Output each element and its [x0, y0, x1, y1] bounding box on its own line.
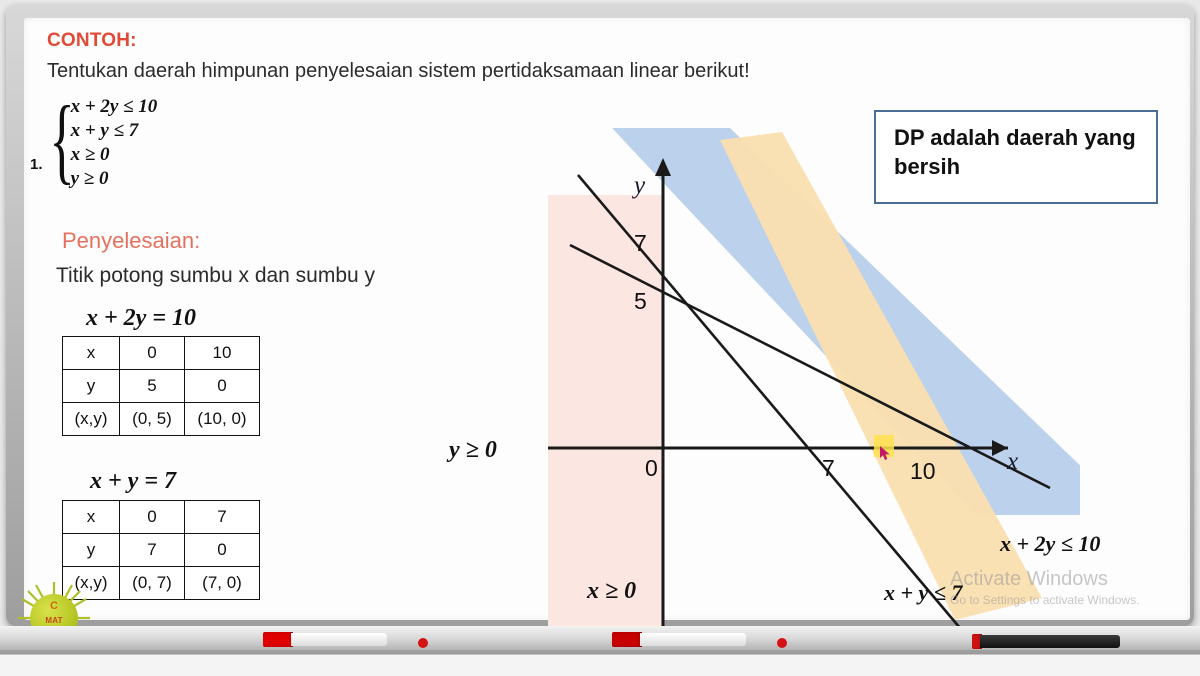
shade-region-orange-x-plus-2y [720, 132, 1042, 620]
whiteboard-marker-red-1 [263, 632, 388, 647]
inequality-system: 1. { x + 2y ≤ 10 x + y ≤ 7 x ≥ 0 y ≥ 0 [30, 96, 157, 190]
table-row: (x,y) (0, 7) (7, 0) [63, 567, 260, 600]
table-row: x 0 7 [63, 501, 260, 534]
cell: x [63, 501, 120, 534]
cell: 10 [185, 337, 260, 370]
instruction-text: Tentukan daerah himpunan penyelesaian si… [47, 60, 750, 83]
page-title: CONTOH: [47, 30, 137, 52]
whiteboard-marker-black [972, 634, 1122, 649]
table-row: x 0 10 [63, 337, 260, 370]
activate-windows-watermark: Activate Windows Go to Settings to activ… [950, 568, 1139, 607]
left-brace-glyph: { [49, 140, 74, 146]
cell: 0 [120, 501, 185, 534]
cell: y [63, 534, 120, 567]
marker-tip-dot-1 [418, 638, 428, 648]
x-tick-10: 10 [910, 458, 936, 485]
logo-text-top: C [30, 600, 78, 612]
marker-body [640, 633, 746, 646]
cell: (7, 0) [185, 567, 260, 600]
cell: 7 [120, 534, 185, 567]
y-tick-5: 5 [634, 288, 647, 315]
marker-body [291, 633, 387, 646]
linear-programming-graph [430, 120, 1080, 630]
solution-label: Penyelesaian: [62, 228, 200, 254]
watermark-title: Activate Windows [950, 568, 1139, 591]
cell: 0 [120, 337, 185, 370]
equation-title-2: x + y = 7 [90, 468, 176, 495]
equation-title-1: x + 2y = 10 [86, 305, 196, 332]
x-tick-7: 7 [822, 455, 835, 482]
whiteboard-marker-red-2 [612, 632, 747, 647]
inequality-label-orange: x + 2y ≤ 10 [1000, 531, 1100, 557]
condition-x-ge-0: x ≥ 0 [587, 578, 636, 605]
system-line-2: x + y ≤ 7 [71, 120, 158, 142]
intercept-table-1: x 0 10 y 5 0 (x,y) (0, 5) (10, 0) [62, 336, 260, 436]
mouse-cursor-icon [879, 446, 892, 461]
cell: (0, 5) [120, 403, 185, 436]
cell: (x,y) [63, 403, 120, 436]
condition-y-ge-0: y ≥ 0 [449, 437, 497, 464]
screenshot-root: CONTOH: Tentukan daerah himpunan penyele… [0, 0, 1200, 675]
marker-cap [612, 632, 642, 647]
cell: (10, 0) [185, 403, 260, 436]
x-axis-label: x [1007, 448, 1018, 476]
cell: 0 [185, 534, 260, 567]
watermark-subtitle: Go to Settings to activate Windows. [950, 593, 1139, 607]
table-row: (x,y) (0, 5) (10, 0) [63, 403, 260, 436]
logo-text-bottom: MAT [30, 616, 78, 625]
intercept-label: Titik potong sumbu x dan sumbu y [56, 264, 375, 288]
table-row: y 5 0 [63, 370, 260, 403]
system-line-1: x + 2y ≤ 10 [71, 96, 158, 118]
shade-region-x-ge-0 [548, 195, 663, 630]
marker-cap [263, 632, 293, 647]
table-row: y 7 0 [63, 534, 260, 567]
origin-tick-0: 0 [645, 455, 658, 482]
problem-number: 1. [30, 114, 43, 173]
marker-body [980, 635, 1120, 648]
cell: 0 [185, 370, 260, 403]
cell: 7 [185, 501, 260, 534]
tray-edge [0, 654, 1200, 676]
system-line-4: y ≥ 0 [71, 168, 158, 190]
system-line-3: x ≥ 0 [71, 144, 158, 166]
cell: (0, 7) [120, 567, 185, 600]
marker-tip-dot-2 [777, 638, 787, 648]
cell: 5 [120, 370, 185, 403]
cell: x [63, 337, 120, 370]
y-axis-label: y [634, 172, 645, 200]
cell: y [63, 370, 120, 403]
y-tick-7: 7 [634, 230, 647, 257]
